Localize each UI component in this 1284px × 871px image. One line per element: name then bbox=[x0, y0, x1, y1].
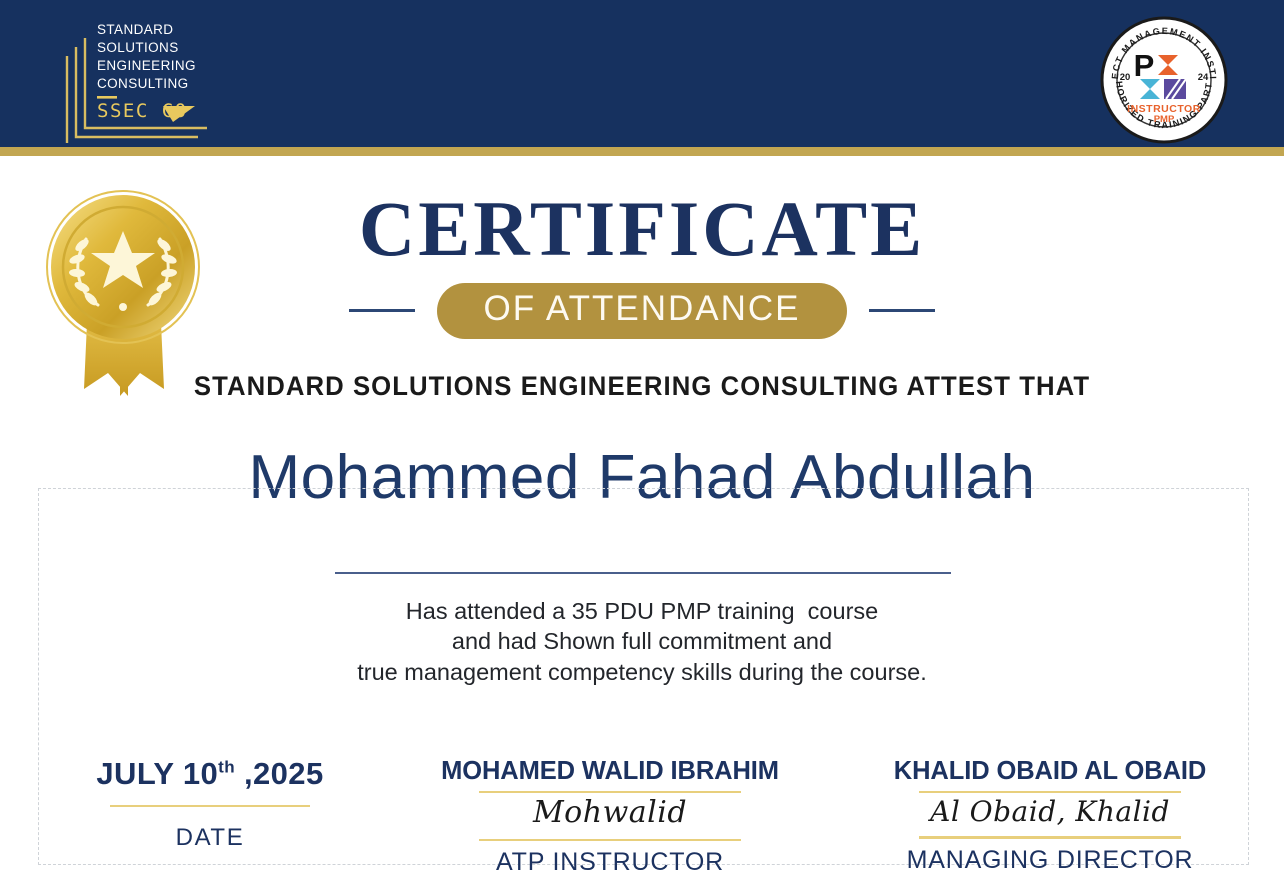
pmi-role-line-2: PMP bbox=[1154, 114, 1175, 125]
body-line-1: Has attended a 35 PDU PMP training cours… bbox=[0, 596, 1284, 626]
pmi-authorized-training-partner-badge: PROJECT MANAGEMENT INSTITUTE AUTHORIZED … bbox=[1100, 16, 1228, 144]
date-gold-rule bbox=[110, 805, 310, 808]
attestation-line: STANDARD SOLUTIONS ENGINEERING CONSULTIN… bbox=[19, 371, 1264, 402]
pmi-badge: PROJECT MANAGEMENT INSTITUTE AUTHORIZED … bbox=[1100, 16, 1228, 144]
subtitle-pill: OF ATTENDANCE bbox=[437, 283, 846, 339]
pmi-purple-mark-icon bbox=[1164, 79, 1186, 99]
instructor-rule-bottom bbox=[479, 839, 741, 842]
signature-row: JULY 10th ,2025 DATE MOHAMED WALID IBRAH… bbox=[60, 758, 1240, 871]
instructor-signature: Mohwalid bbox=[425, 793, 795, 832]
instructor-name: MOHAMED WALID IBRAHIM bbox=[425, 758, 795, 785]
logo-line-2: SOLUTIONS bbox=[97, 40, 179, 55]
director-caption: MANAGING DIRECTOR bbox=[860, 846, 1240, 871]
pmi-logo-letter: P bbox=[1134, 48, 1155, 83]
certificate-page: STANDARD SOLUTIONS ENGINEERING CONSULTIN… bbox=[0, 0, 1284, 871]
body-line-2: and had Shown full commitment and bbox=[0, 626, 1284, 656]
logo-divider bbox=[97, 96, 117, 99]
subtitle-dash-right bbox=[869, 309, 935, 312]
body-text: Has attended a 35 PDU PMP training cours… bbox=[0, 596, 1284, 687]
director-signature-block: KHALID OBAID AL OBAID Al Obaid, Khalid M… bbox=[860, 758, 1240, 871]
pmi-year-right: 24 bbox=[1198, 72, 1209, 83]
logo-brand: SSEC CO bbox=[97, 100, 188, 122]
certificate-subtitle: OF ATTENDANCE bbox=[0, 283, 1284, 339]
director-rule-bottom bbox=[919, 836, 1181, 839]
logo-line-1: STANDARD bbox=[97, 22, 173, 37]
date-caption: DATE bbox=[60, 824, 360, 852]
logo-line-3: ENGINEERING bbox=[97, 58, 196, 73]
pmi-year-left: 20 bbox=[1120, 72, 1131, 83]
instructor-signature-block: MOHAMED WALID IBRAHIM Mohwalid ATP INSTR… bbox=[425, 758, 795, 871]
date-year: ,2025 bbox=[235, 756, 324, 791]
instructor-caption: ATP INSTRUCTOR bbox=[425, 848, 795, 871]
date-value: JULY 10th ,2025 bbox=[60, 758, 360, 791]
director-signature: Al Obaid, Khalid bbox=[860, 793, 1240, 830]
recipient-name: Mohammed Fahad Abdullah bbox=[0, 444, 1284, 512]
header-gold-stripe bbox=[0, 147, 1284, 156]
ssec-logo-icon: STANDARD SOLUTIONS ENGINEERING CONSULTIN… bbox=[55, 18, 215, 143]
body-line-3: true management competency skills during… bbox=[0, 657, 1284, 687]
date-block: JULY 10th ,2025 DATE bbox=[60, 758, 360, 852]
name-divider bbox=[335, 572, 951, 574]
company-logo: STANDARD SOLUTIONS ENGINEERING CONSULTIN… bbox=[55, 18, 215, 143]
date-ordinal: th bbox=[218, 758, 235, 777]
director-name: KHALID OBAID AL OBAID bbox=[860, 758, 1240, 785]
logo-line-4: CONSULTING bbox=[97, 76, 189, 91]
date-month-day: JULY 10 bbox=[96, 756, 218, 791]
subtitle-dash-left bbox=[349, 309, 415, 312]
page-title: CERTIFICATE bbox=[0, 190, 1284, 268]
